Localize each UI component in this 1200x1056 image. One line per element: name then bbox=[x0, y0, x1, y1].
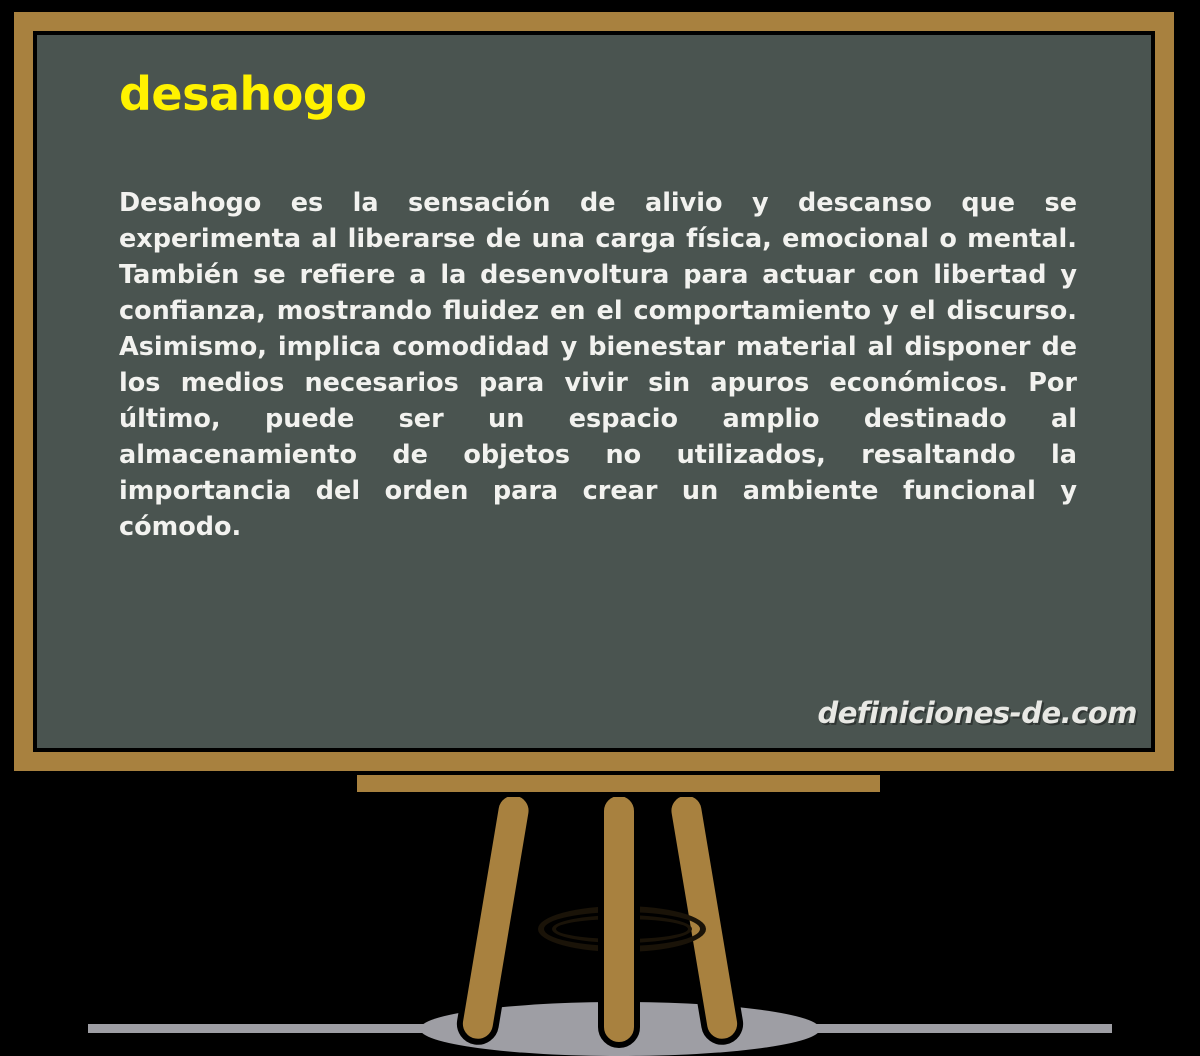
site-watermark: definiciones-de.com bbox=[817, 696, 1137, 730]
page-title: desahogo bbox=[119, 71, 1121, 117]
easel-leg-center bbox=[598, 790, 640, 1048]
definition-text: Desahogo es la sensación de alivio y des… bbox=[119, 185, 1077, 545]
easel-blackboard-scene: desahogo Desahogo es la sensación de ali… bbox=[0, 0, 1200, 1056]
blackboard-frame: desahogo Desahogo es la sensación de ali… bbox=[10, 8, 1178, 775]
blackboard-surface: desahogo Desahogo es la sensación de ali… bbox=[33, 31, 1155, 752]
